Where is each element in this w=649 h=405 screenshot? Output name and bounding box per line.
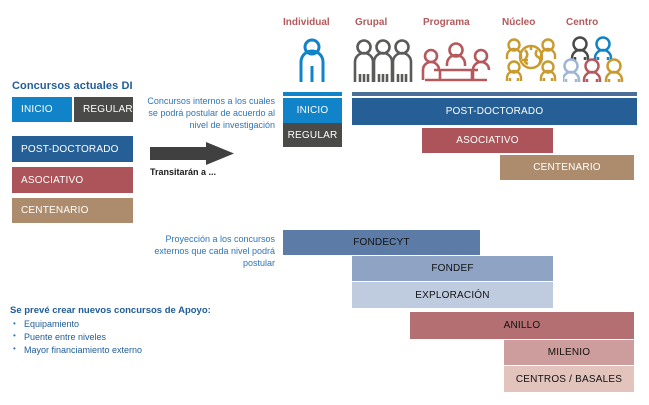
bar-centenario: CENTENARIO	[12, 198, 133, 223]
apoyo-item: Puente entre niveles	[10, 331, 275, 344]
bar-label: REGULAR	[83, 104, 133, 115]
bar-label: MILENIO	[548, 347, 591, 358]
bar-centros-basales: CENTROS / BASALES	[504, 366, 634, 392]
bar-label: CENTENARIO	[21, 205, 89, 216]
transition-arrow-label: Transitarán a ...	[150, 167, 216, 177]
bar-inicio: INICIO	[12, 97, 72, 122]
bar-label: FONDEF	[431, 263, 473, 274]
external-competitions-note: Proyección a los concursos externos que …	[140, 234, 275, 270]
bar-label: ASOCIATIVO	[456, 135, 518, 146]
people-at-table-icon	[420, 42, 492, 89]
bar-centenario: CENTENARIO	[500, 155, 634, 180]
bar-label: ASOCIATIVO	[21, 175, 83, 186]
column-title-individual: Individual	[283, 17, 330, 28]
bar-label: POST-DOCTORADO	[21, 144, 119, 155]
bar-regular: REGULAR	[74, 97, 133, 122]
bar-inicio: INICIO	[283, 98, 342, 123]
bar-label: INICIO	[21, 104, 53, 115]
three-people-icon	[352, 38, 414, 89]
column-underline-1	[352, 92, 637, 96]
bar-anillo: ANILLO	[410, 312, 634, 339]
single-person-icon	[295, 38, 329, 89]
column-title-centro: Centro	[566, 17, 598, 28]
bar-fondecyt: FONDECYT	[283, 230, 480, 255]
bar-label: CENTENARIO	[533, 162, 601, 173]
internal-competitions-note: Concursos internos a los cuales se podrá…	[140, 96, 275, 132]
bar-asociativo: ASOCIATIVO	[422, 128, 553, 153]
five-people-group-icon	[563, 36, 625, 89]
column-title-grupal: Grupal	[355, 17, 387, 28]
bar-exploraci-n: EXPLORACIÓN	[352, 282, 553, 308]
bar-milenio: MILENIO	[504, 340, 634, 365]
apoyo-title: Se prevé crear nuevos concursos de Apoyo…	[10, 305, 275, 316]
bar-regular: REGULAR	[283, 123, 342, 147]
column-underline-0	[283, 92, 342, 96]
apoyo-item: Equipamiento	[10, 318, 275, 331]
bar-label: POST-DOCTORADO	[446, 106, 544, 117]
left-panel-title: Concursos actuales DI	[12, 80, 133, 92]
people-around-globe-icon	[505, 38, 557, 89]
bar-label: CENTROS / BASALES	[516, 374, 622, 385]
apoyo-item: Mayor financiamiento externo	[10, 344, 275, 357]
bar-label: REGULAR	[288, 130, 338, 141]
bar-label: INICIO	[297, 105, 329, 116]
bar-fondef: FONDEF	[352, 256, 553, 281]
bar-post-doctorado: POST-DOCTORADO	[12, 136, 133, 162]
column-title-núcleo: Núcleo	[502, 17, 535, 28]
transition-arrow-icon	[150, 142, 234, 170]
bar-label: FONDECYT	[353, 237, 410, 248]
bar-post-doctorado: POST-DOCTORADO	[352, 98, 637, 125]
bar-label: ANILLO	[504, 320, 541, 331]
apoyo-block: Se prevé crear nuevos concursos de Apoyo…	[10, 305, 275, 356]
column-title-programa: Programa	[423, 17, 470, 28]
bar-asociativo: ASOCIATIVO	[12, 167, 133, 193]
bar-label: EXPLORACIÓN	[415, 290, 489, 301]
apoyo-item-list: EquipamientoPuente entre nivelesMayor fi…	[10, 318, 275, 356]
